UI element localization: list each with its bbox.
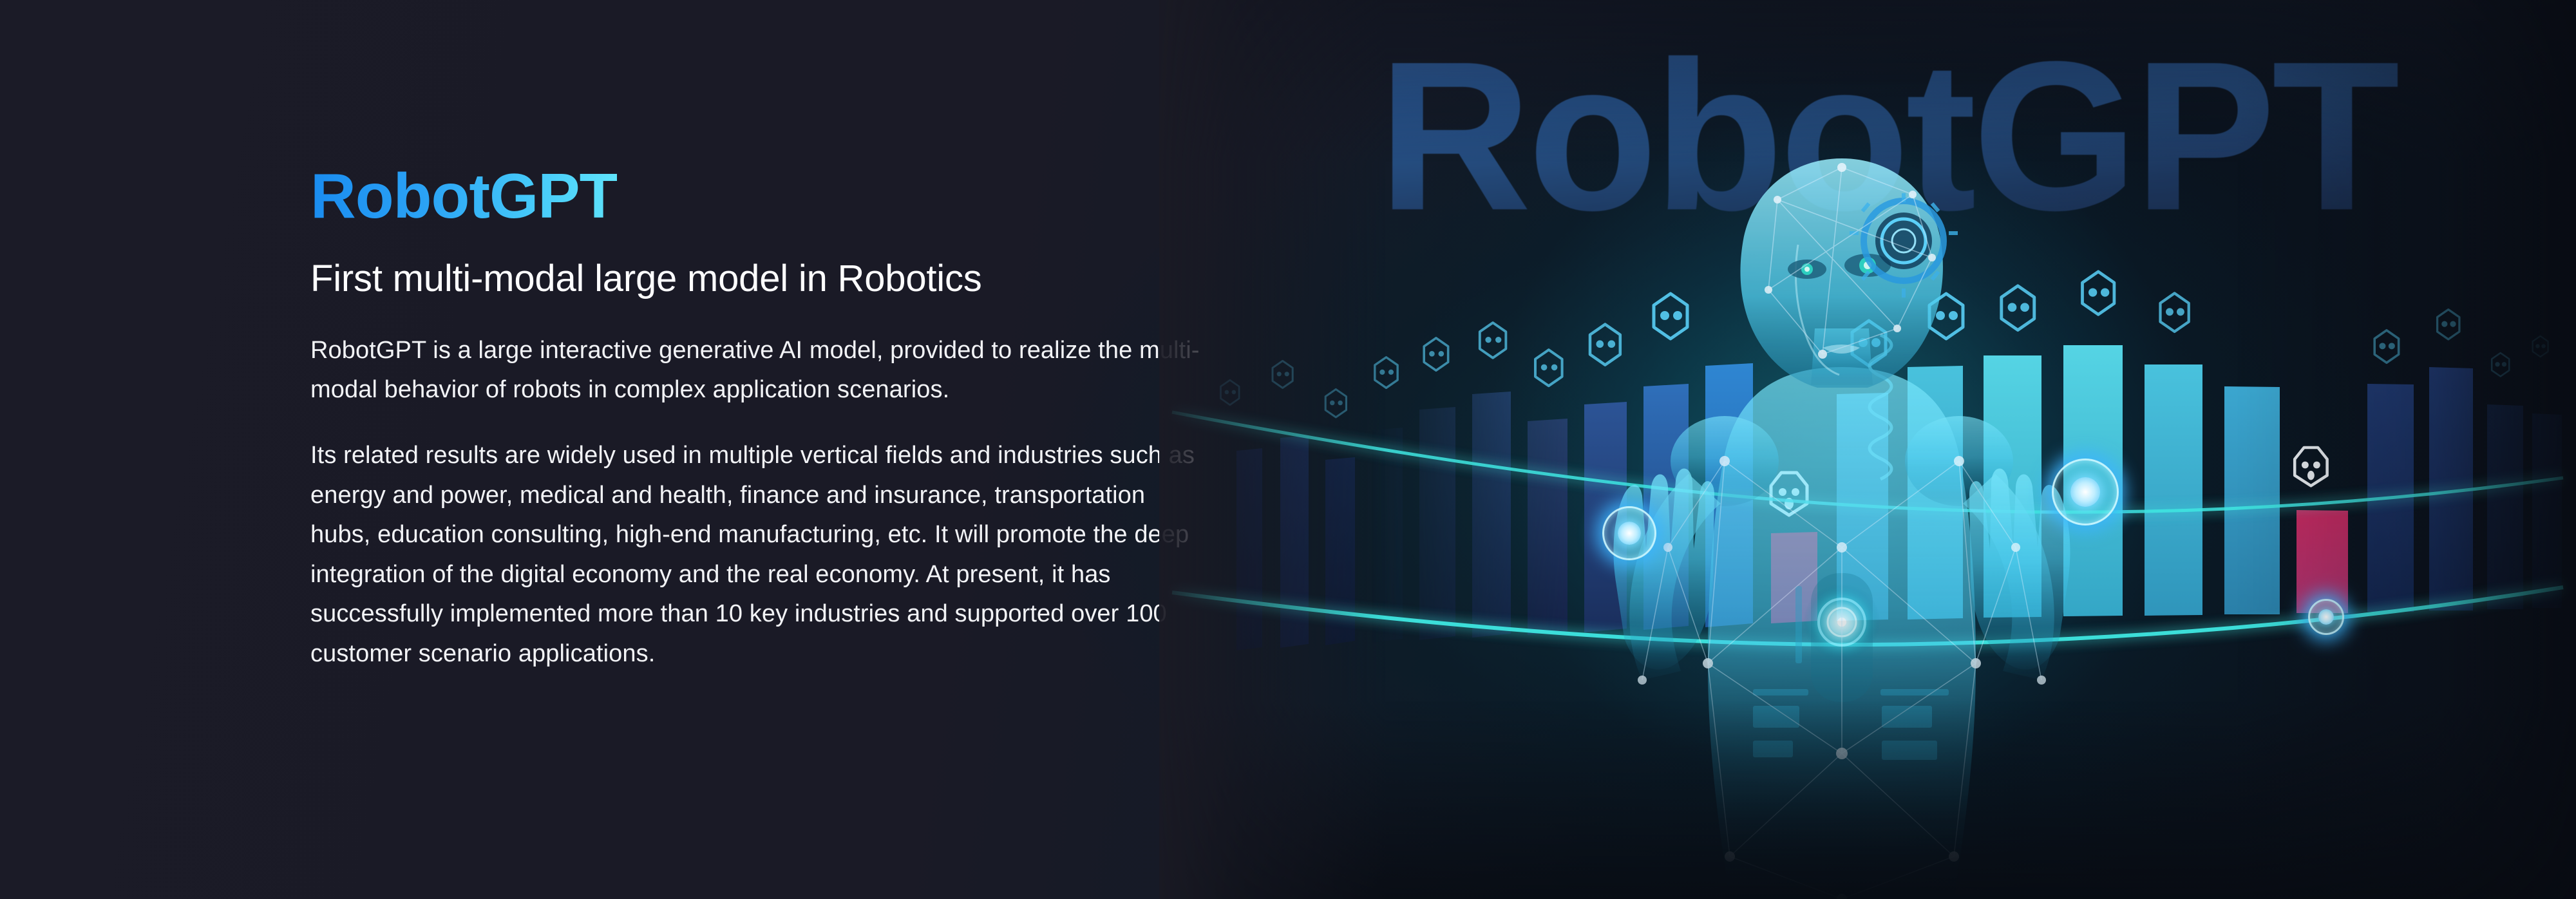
bar [1528, 419, 1567, 635]
robot-face-icon [2083, 272, 2114, 315]
bar [2063, 345, 2123, 616]
robot-face-icon [1221, 380, 1240, 405]
bar [1325, 457, 1355, 645]
hero-copy-block: RobotGPT First multi-modal large model i… [310, 164, 1212, 674]
robot-face-icon [1480, 323, 1506, 358]
hero-banner: RobotGPT First multi-modal large model i… [0, 0, 2576, 899]
robot-face-icon [2002, 286, 2034, 330]
bar [1236, 448, 1262, 650]
bar-highlight [2297, 510, 2348, 613]
robot-face-icon [2161, 293, 2189, 332]
bar-highlight [1771, 532, 1817, 623]
robot-face-icon [1590, 325, 1620, 365]
hero-description: RobotGPT is a large interactive generati… [310, 331, 1212, 674]
description-paragraph-2: Its related results are widely used in m… [310, 436, 1206, 674]
bar-group [1236, 345, 2562, 650]
bar [2487, 404, 2523, 609]
bar-chart [1159, 0, 2576, 899]
robot-face-icon [1852, 321, 1886, 366]
robot-face-icon [2533, 336, 2548, 357]
hero-tagline: First multi-modal large model in Robotic… [310, 258, 1212, 300]
robot-face-icon [1325, 389, 1346, 417]
robot-face-icon [1375, 357, 1397, 388]
bar [1584, 402, 1627, 632]
robot-face-icon [2438, 310, 2459, 339]
bar [1908, 366, 1963, 620]
robot-face-icon [2374, 330, 2398, 363]
bar [2224, 386, 2280, 614]
bar [1472, 392, 1511, 638]
robot-face-icon [2492, 353, 2509, 376]
robot-face-icon [1273, 361, 1293, 388]
hero-illustration: RobotGPT [1159, 0, 2576, 899]
bar [2532, 413, 2562, 608]
bar [1643, 384, 1689, 630]
bar [1280, 435, 1309, 648]
robot-face-icon [1424, 338, 1448, 370]
description-paragraph-1: RobotGPT is a large interactive generati… [310, 331, 1206, 410]
bar [2145, 364, 2202, 616]
robot-face-icon [1535, 350, 1562, 386]
robot-face-icon-alert [2295, 448, 2327, 486]
page-title: RobotGPT [310, 164, 617, 229]
robot-face-icon-alert [1771, 473, 1807, 515]
bar [1419, 407, 1455, 640]
robot-face-icon [1929, 294, 1963, 339]
bar [1984, 355, 2041, 618]
robot-face-icon [1654, 294, 1687, 339]
bar-chart-svg [1159, 0, 2576, 899]
bar [1372, 428, 1403, 643]
